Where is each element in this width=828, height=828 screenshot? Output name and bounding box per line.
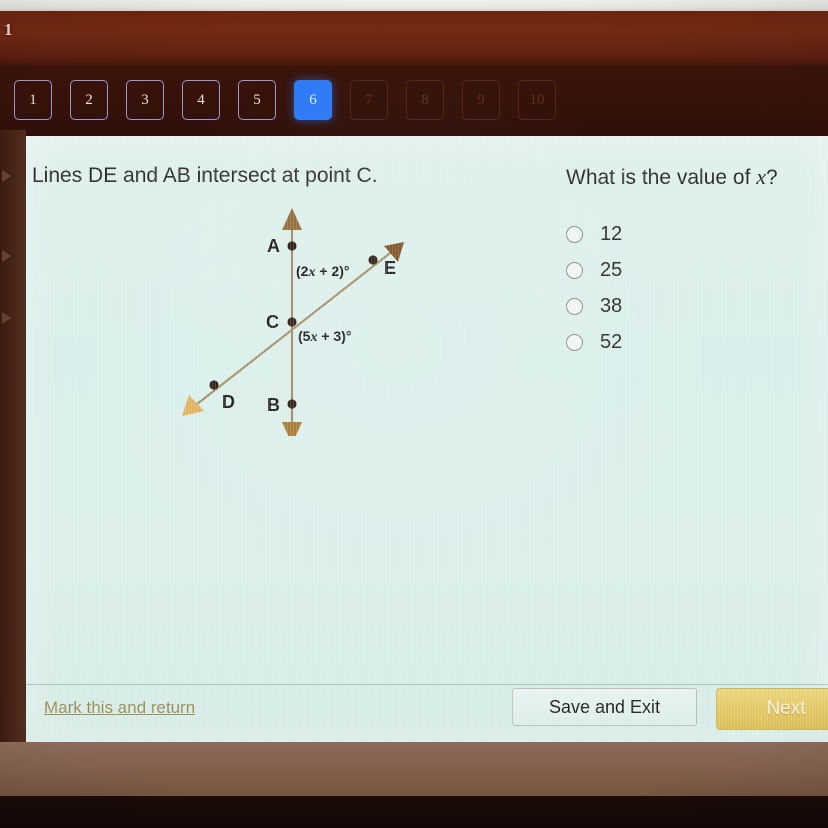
point-d-dot [209,380,218,389]
question-prompt: What is the value of x? [566,164,778,190]
radio-button-icon[interactable] [566,226,583,243]
question-palette: 1 2 3 4 5 6 7 8 9 10 [14,80,614,130]
question-nav-button-6-current[interactable]: 6 [294,80,332,120]
question-nav-button-3[interactable]: 3 [126,80,164,120]
save-and-exit-button[interactable]: Save and Exit [512,688,697,726]
answer-choice-label: 52 [600,331,622,354]
next-button[interactable]: Next [716,688,828,730]
question-nav-button-9[interactable]: 9 [462,80,500,120]
question-nav-button-8[interactable]: 8 [406,80,444,120]
radio-button-icon[interactable] [566,262,583,279]
photo-of-screen: 1 1 2 3 4 5 6 7 8 9 10 Lines DE and AB i… [0,0,828,828]
point-b-label: B [267,395,280,416]
answer-choice-label: 38 [600,295,622,318]
arrowhead-up-icon [282,208,302,230]
radio-button-icon[interactable] [566,334,583,351]
photo-bottom-shadow [0,796,828,828]
answer-choice-1[interactable]: 12 [566,216,622,252]
point-a-label: A [267,236,280,257]
question-prompt-variable: x [756,164,766,189]
angle-label-lower: (5x + 3)° [298,328,351,346]
screen-bottom-bezel [0,742,828,798]
angle-lower-close: + 3)° [317,328,351,344]
rail-reflection-icon [2,312,11,324]
radio-button-icon[interactable] [566,298,583,315]
point-d-label: D [222,392,235,413]
geometry-figure: A C B D E (2x + 2)° (5x + 3)° [26,136,496,436]
arrowhead-down-icon [282,422,302,436]
footer-divider [26,684,828,685]
rail-reflection-icon [2,250,11,262]
angle-label-upper: (2x + 2)° [296,263,349,281]
angle-upper-open: (2 [296,263,308,279]
point-c-dot [287,317,296,326]
question-nav-button-4[interactable]: 4 [182,80,220,120]
screen-left-bezel [0,130,26,770]
answer-choices: 12 25 38 52 [566,216,622,360]
point-c-label: C [266,312,279,333]
point-e-dot [368,255,377,264]
answer-choice-label: 12 [600,223,622,246]
angle-lower-open: (5 [298,328,310,344]
answer-choice-3[interactable]: 38 [566,288,622,324]
intersecting-lines-diagram [26,136,496,436]
rail-reflection-icon [2,170,11,182]
answer-choice-label: 25 [600,259,622,282]
point-b-dot [287,399,296,408]
question-prompt-prefix: What is the value of [566,166,756,189]
question-nav-button-7[interactable]: 7 [350,80,388,120]
answer-choice-2[interactable]: 25 [566,252,622,288]
point-a-dot [287,241,296,250]
question-page: Lines DE and AB intersect at point C. Wh… [26,136,828,744]
question-nav-button-10[interactable]: 10 [518,80,556,120]
screen-top-band [0,11,828,69]
corner-marker: 1 [4,20,13,40]
answer-choice-4[interactable]: 52 [566,324,622,360]
question-nav-button-2[interactable]: 2 [70,80,108,120]
angle-upper-close: + 2)° [315,263,349,279]
mark-this-and-return-link[interactable]: Mark this and return [44,698,195,718]
point-e-label: E [384,258,396,279]
question-nav-button-5[interactable]: 5 [238,80,276,120]
question-nav-button-1[interactable]: 1 [14,80,52,120]
question-prompt-suffix: ? [766,166,778,189]
